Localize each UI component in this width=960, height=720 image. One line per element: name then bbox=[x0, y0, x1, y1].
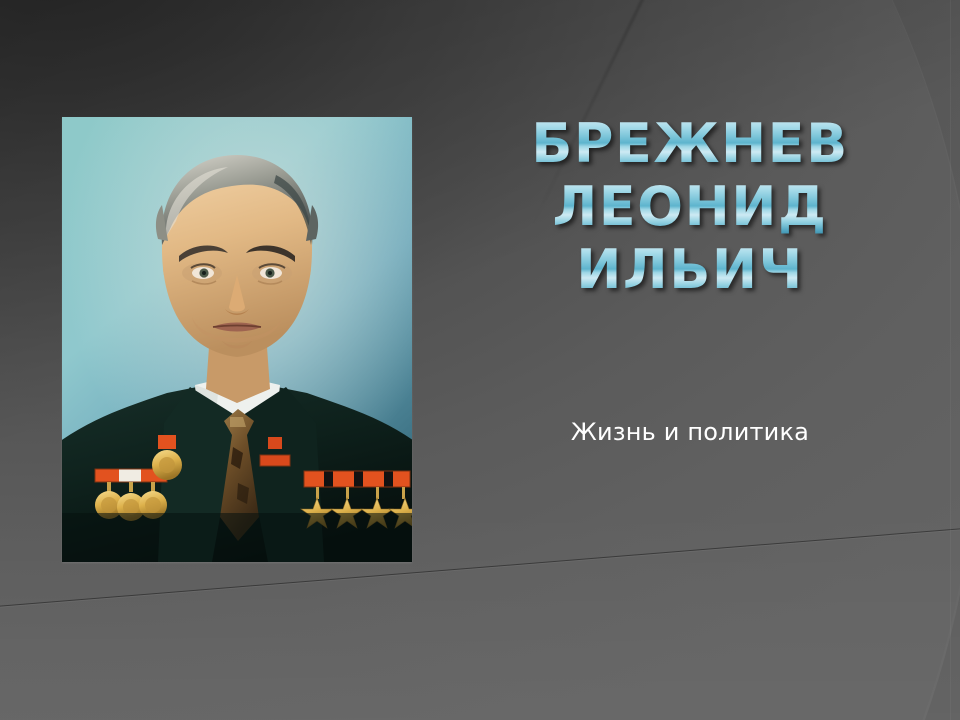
slide-title: БРЕЖНЕВ ЛЕОНИД ИЛЬИЧ bbox=[455, 118, 925, 307]
title-line-2: ЛЕОНИД bbox=[455, 181, 925, 234]
portrait-illustration bbox=[62, 117, 412, 562]
portrait-photo bbox=[62, 117, 412, 562]
title-line-1: БРЕЖНЕВ bbox=[455, 118, 925, 171]
title-line-3: ИЛЬИЧ bbox=[455, 244, 925, 297]
background-right-edge-line bbox=[950, 0, 951, 720]
presentation-slide: БРЕЖНЕВ ЛЕОНИД ИЛЬИЧ Жизнь и политика bbox=[0, 0, 960, 720]
slide-subtitle: Жизнь и политика bbox=[455, 418, 925, 446]
